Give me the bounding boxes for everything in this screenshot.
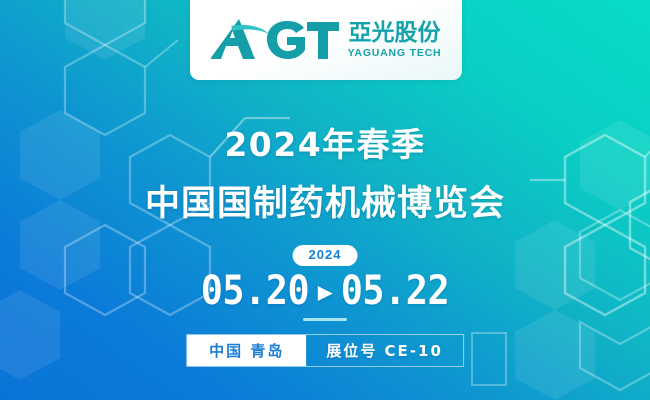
logo-text-block: 亞光股份 YAGUANG TECH	[348, 22, 442, 59]
info-booth: 展位号 CE-10	[306, 335, 463, 366]
info-bar: 中国 青岛 展位号 CE-10	[186, 334, 464, 367]
title-line-2: 中国国制药机械博览会	[0, 175, 650, 226]
date-underline	[303, 318, 347, 321]
logo-card: 亞光股份 YAGUANG TECH	[190, 0, 462, 80]
logo-english-name: YAGUANG TECH	[348, 48, 442, 59]
date-range: 05.20▶05.22	[0, 268, 650, 314]
info-city: 中国 青岛	[187, 335, 306, 366]
date-end: 05.22	[341, 268, 449, 314]
agt-monogram-icon	[211, 17, 339, 63]
logo-chinese-name: 亞光股份	[349, 22, 441, 45]
date-start: 05.20	[201, 268, 309, 314]
title-line-1: 2024年春季	[0, 118, 650, 166]
date-arrow-icon: ▶	[318, 277, 333, 306]
year-badge: 2024	[293, 245, 358, 266]
exhibition-banner: 亞光股份 YAGUANG TECH 2024年春季 中国国制药机械博览会 202…	[0, 0, 650, 400]
